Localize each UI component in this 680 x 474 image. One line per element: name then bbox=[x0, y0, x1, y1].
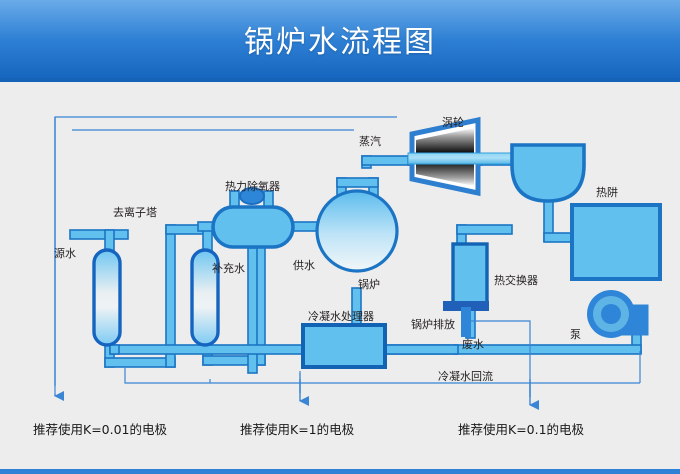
label-condensate-return: 冷凝水回流 bbox=[438, 371, 493, 382]
flow-diagram-svg bbox=[0, 83, 680, 469]
label-steam: 蒸汽 bbox=[359, 136, 381, 147]
label-turbine: 涡轮 bbox=[442, 117, 464, 128]
label-boiler-blowdown: 锅炉排放 bbox=[411, 319, 455, 330]
condenser-vessel bbox=[512, 145, 584, 201]
label-deionizer-tower: 去离子塔 bbox=[113, 207, 157, 218]
hot-well-tank bbox=[572, 205, 660, 279]
boiler-drum bbox=[317, 191, 397, 271]
condensate-polisher-unit bbox=[303, 325, 385, 367]
label-thermal-deaerator: 热力除氧器 bbox=[225, 181, 280, 192]
recommendation-label-k01: 推荐使用K=0.1的电极 bbox=[458, 419, 584, 438]
recommendation-label-k1: 推荐使用K=1的电极 bbox=[240, 419, 354, 438]
label-hot-well: 热阱 bbox=[596, 187, 618, 198]
label-pump: 泵 bbox=[570, 329, 581, 340]
header-underline bbox=[0, 78, 680, 82]
footer-accent-bar bbox=[0, 469, 680, 474]
label-condensate-polisher: 冷凝水处理器 bbox=[308, 311, 374, 322]
label-heat-exchanger: 热交换器 bbox=[494, 275, 538, 286]
recommendation-arrows bbox=[55, 383, 530, 405]
deionizer-tower-1 bbox=[94, 250, 120, 345]
recommendation-label-k001: 推荐使用K=0.01的电极 bbox=[33, 419, 167, 438]
page-header: 锅炉水流程图 bbox=[0, 0, 680, 78]
pump-unit bbox=[587, 290, 648, 338]
diagram-page: 锅炉水流程图 bbox=[0, 0, 680, 474]
page-title: 锅炉水流程图 bbox=[0, 0, 680, 78]
deaerator-vessel bbox=[213, 207, 293, 247]
label-feed-water: 供水 bbox=[293, 260, 315, 271]
label-makeup-water: 补充水 bbox=[212, 263, 245, 274]
flow-diagram-canvas: 源水 去离子塔 热力除氧器 补充水 供水 锅炉 蒸汽 涡轮 热阱 热交换器 泵 … bbox=[0, 83, 680, 469]
label-wastewater: 废水 bbox=[462, 339, 484, 350]
label-source-water: 源水 bbox=[54, 248, 76, 259]
turbine-shaft-pipe bbox=[408, 153, 528, 164]
heat-exchanger-unit bbox=[453, 244, 487, 306]
label-boiler: 锅炉 bbox=[358, 279, 380, 290]
